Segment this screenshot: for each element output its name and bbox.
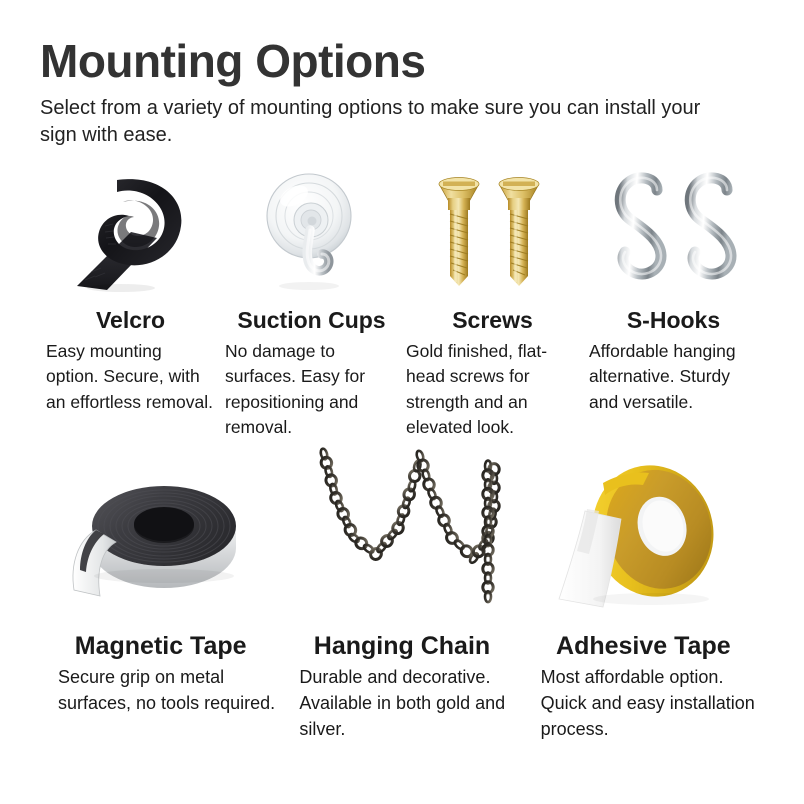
adhesive-tape-roll-icon — [523, 456, 764, 614]
hanging-chain-icon: {"paths":[ [[22,8],[34,52],[52,92],[74,1… — [281, 456, 522, 614]
page-subtitle: Select from a variety of mounting option… — [40, 95, 712, 150]
magnetic-tape-roll-icon — [40, 456, 281, 614]
mounting-options-row-1: Velcro Easy mounting option. Secure, wit… — [40, 164, 764, 440]
option-card-screws[interactable]: Screws Gold finished, flat-head screws f… — [402, 164, 583, 440]
option-title: Hanging Chain — [314, 632, 490, 660]
option-title: Velcro — [96, 308, 165, 334]
option-description: Easy mounting option. Secure, with an ef… — [40, 339, 221, 415]
suction-cup-hook-icon — [221, 164, 402, 296]
option-title: Adhesive Tape — [556, 632, 731, 660]
option-title: Screws — [452, 308, 533, 334]
option-title: S-Hooks — [627, 308, 720, 334]
option-card-magnetic-tape[interactable]: Magnetic Tape Secure grip on metal surfa… — [40, 456, 281, 742]
option-card-hanging-chain[interactable]: {"paths":[ [[22,8],[34,52],[52,92],[74,1… — [281, 456, 522, 742]
option-description: Secure grip on metal surfaces, no tools … — [40, 664, 281, 716]
flat-head-screws-icon — [402, 164, 583, 296]
option-card-suction-cups[interactable]: Suction Cups No damage to surfaces. Easy… — [221, 164, 402, 440]
option-description: Affordable hanging alternative. Sturdy a… — [583, 339, 764, 415]
velcro-strap-icon — [40, 164, 221, 296]
page-title: Mounting Options — [40, 38, 764, 86]
option-card-velcro[interactable]: Velcro Easy mounting option. Secure, wit… — [40, 164, 221, 440]
option-card-s-hooks[interactable]: S-Hooks Affordable hanging alternative. … — [583, 164, 764, 440]
option-title: Magnetic Tape — [75, 632, 247, 660]
option-title: Suction Cups — [237, 308, 385, 334]
option-description: Durable and decorative. Available in bot… — [281, 664, 522, 742]
mounting-options-page: Mounting Options Select from a variety o… — [0, 0, 804, 804]
option-description: No damage to surfaces. Easy for repositi… — [221, 339, 402, 441]
option-description: Gold finished, flat-head screws for stre… — [402, 339, 583, 441]
option-card-adhesive-tape[interactable]: Adhesive Tape Most affordable option. Qu… — [523, 456, 764, 742]
option-description: Most affordable option. Quick and easy i… — [523, 664, 764, 742]
s-hooks-icon — [583, 164, 764, 296]
mounting-options-row-2: Magnetic Tape Secure grip on metal surfa… — [40, 456, 764, 742]
